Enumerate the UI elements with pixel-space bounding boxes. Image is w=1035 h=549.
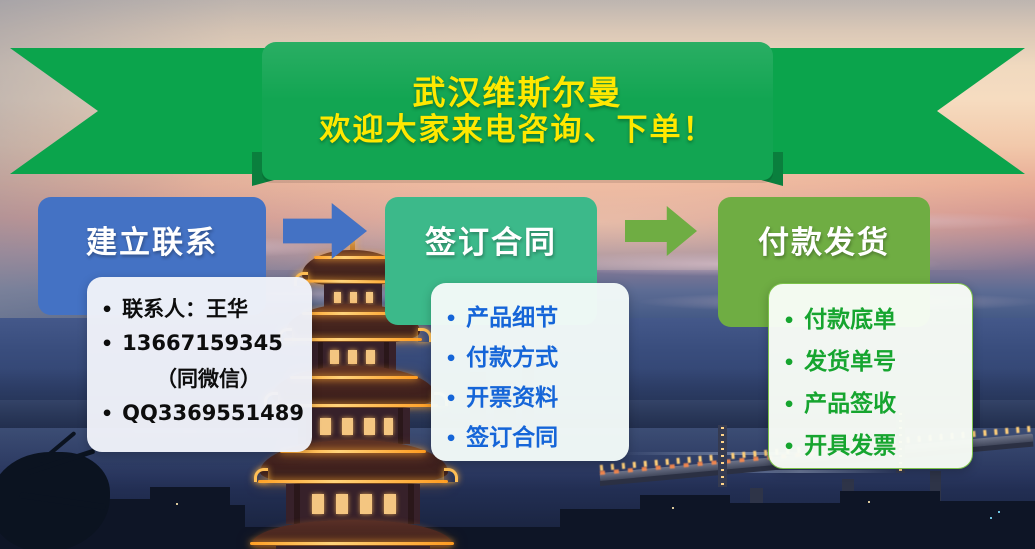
company-name: 武汉维斯尔曼 [413,76,623,109]
pagoda-tier-body [298,408,410,444]
step-body-contract: • 产品细节 • 付款方式 • 开票资料 • 签订合同 [431,283,629,461]
list-item: • 联系人：王华 [101,289,298,327]
list-item-sub: （同微信） [101,359,298,397]
city-light [672,507,674,509]
bullet-icon: • [783,396,795,415]
step-title-contract: 签订合同 [425,217,557,262]
pagoda-window [312,494,324,514]
list-item: • 13667159345 [101,327,298,359]
pagoda-eave-light [258,480,448,483]
skyline-block [0,527,1035,549]
headline-ribbon: 武汉维斯尔曼 欢迎大家来电咨询、下单！ [0,48,1035,174]
list-item: • 产品细节 [445,295,615,335]
pagoda-eave-tip [254,468,268,482]
list-item: • 付款方式 [445,335,615,375]
pagoda-window [342,418,353,435]
arrow-contract-to-payment-icon [625,206,697,256]
ribbon-text-block: 武汉维斯尔曼 欢迎大家来电咨询、下单！ [262,42,773,180]
step-title-contact: 建立联系 [86,217,218,262]
bullet-icon: • [783,438,795,457]
pagoda-post [408,484,414,524]
pagoda-window [364,418,375,435]
pagoda-window [336,494,348,514]
contract-item-sign-contract: 签订合同 [466,418,558,452]
contact-phone: 13667159345 [122,331,283,355]
contact-person: 联系人：王华 [122,293,248,323]
pagoda-window [384,494,396,514]
list-item: • 发货单号 [783,338,958,380]
pagoda-window [334,292,341,303]
bullet-icon: • [445,310,457,329]
pagoda-window [366,292,373,303]
list-item: • QQ3369551489 [101,397,298,429]
pagoda-window [348,350,357,364]
list-item: • 产品签收 [783,380,958,422]
pagoda-tier-body [286,484,420,524]
city-light [998,511,1000,513]
contract-item-payment-method: 付款方式 [466,338,558,372]
contact-detail-list: • 联系人：王华 • 13667159345 （同微信） • QQ3369551… [101,289,298,429]
payment-item-product-signoff: 产品签收 [804,384,896,418]
bullet-icon: • [101,405,113,424]
bullet-icon: • [101,335,113,354]
bullet-icon: • [783,354,795,373]
arrow-contact-to-contract-icon [283,203,367,259]
step-title-payment: 付款发货 [758,217,890,262]
payment-item-issue-invoice: 开具发票 [804,426,896,460]
step-card-payment[interactable]: 付款发货 • 付款底单 • 发货单号 • 产品签收 • 开具发票 [718,197,930,357]
ribbon-center-panel: 武汉维斯尔曼 欢迎大家来电咨询、下单！ [262,42,773,180]
pagoda-post [294,484,300,524]
payment-detail-list: • 付款底单 • 发货单号 • 产品签收 • 开具发票 [783,296,958,464]
step-body-payment: • 付款底单 • 发货单号 • 产品签收 • 开具发票 [768,283,973,469]
pagoda-window [360,494,372,514]
pagoda-window [366,350,375,364]
poster-canvas: 武汉维斯尔曼 欢迎大家来电咨询、下单！ 建立联系 • 联系人：王华 • 1366… [0,0,1035,549]
payment-item-tracking-number: 发货单号 [804,342,896,376]
bullet-icon: • [101,301,113,320]
pagoda-post [398,408,403,444]
pagoda-window [384,418,393,435]
list-item: • 签订合同 [445,415,615,455]
bullet-icon: • [445,430,457,449]
contact-wechat-note: （同微信） [101,363,298,393]
pagoda-window [350,292,357,303]
pagoda-window [330,350,339,364]
step-body-contact: • 联系人：王华 • 13667159345 （同微信） • QQ3369551… [87,277,312,452]
arrow-right-icon [625,206,697,256]
contact-qq: QQ3369551489 [122,401,304,425]
list-item: • 付款底单 [783,296,958,338]
city-light [176,503,178,505]
list-item: • 开具发票 [783,422,958,464]
city-light [868,501,870,503]
bullet-icon: • [445,350,457,369]
contract-detail-list: • 产品细节 • 付款方式 • 开票资料 • 签订合同 [445,295,615,455]
bullet-icon: • [445,390,457,409]
city-light [990,517,992,519]
step-card-contact[interactable]: 建立联系 • 联系人：王华 • 13667159345 （同微信） • QQ33… [38,197,266,357]
bullet-icon: • [783,312,795,331]
arrow-right-icon [283,203,367,259]
contract-item-product-details: 产品细节 [466,298,558,332]
step-card-contract[interactable]: 签订合同 • 产品细节 • 付款方式 • 开票资料 • 签订合同 [385,197,597,357]
payment-item-receipt: 付款底单 [804,300,896,334]
list-item: • 开票资料 [445,375,615,415]
banner-subtitle: 欢迎大家来电咨询、下单！ [320,115,716,146]
pagoda-window [320,418,331,435]
pagoda-eave-light [250,542,454,545]
contract-item-invoice-info: 开票资料 [466,378,558,412]
